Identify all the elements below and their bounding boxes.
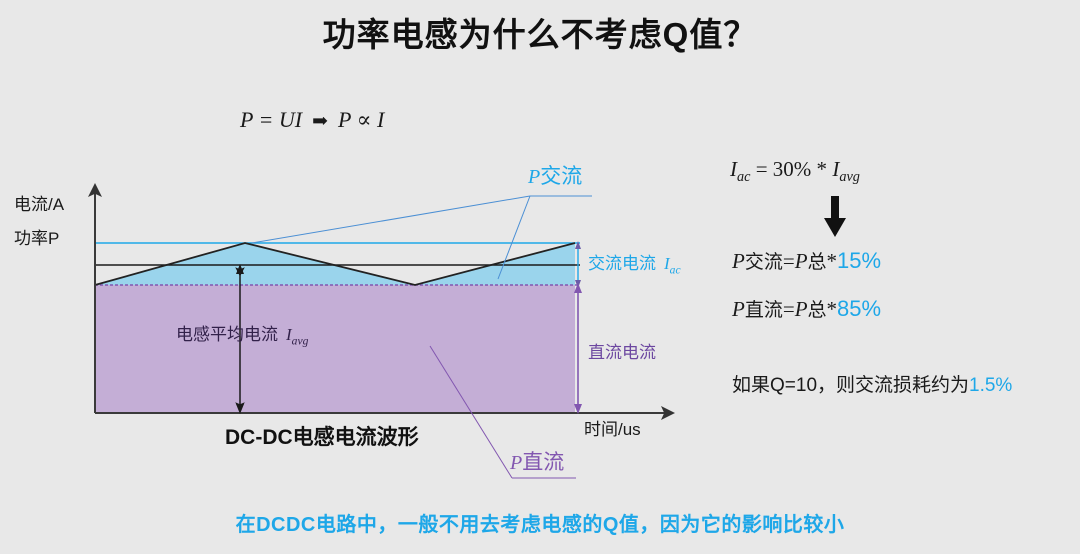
note-q-loss: 如果Q=10，则交流损耗约为1.5% <box>732 370 1012 397</box>
label-ac-current-text: 交流电流 <box>588 254 656 273</box>
eq-pdc-rhs-sub: 总 <box>808 300 827 321</box>
equation-iac-ripple: Iac = 30% * Iavg <box>730 157 860 186</box>
eq-pac-rhs-sub: 总 <box>808 252 827 273</box>
label-p-dc-symbol: P <box>510 452 522 474</box>
label-p-ac: P交流 <box>528 160 582 190</box>
label-avg-current-symbol: Iavg <box>278 325 308 344</box>
label-p-ac-symbol: P <box>528 166 540 188</box>
equation-p-ac-share: P交流=P总*15% <box>732 247 881 274</box>
eq-pac-percent: 15% <box>837 248 881 273</box>
eq-pdc-percent: 85% <box>837 296 881 321</box>
arrow-down-icon <box>820 196 850 240</box>
label-p-ac-subscript: 交流 <box>540 165 582 188</box>
label-ac-current: 交流电流Iac <box>588 249 681 276</box>
slide-root: 功率电感为什么不考虑Q值？ P = UI➡P ∝ I <box>0 0 1080 554</box>
dc-area-fill <box>95 285 575 413</box>
eq-pac-lhs-symbol: P <box>732 249 745 273</box>
ac-arrow-head-up <box>575 241 581 249</box>
eq-pac-lhs-sub: 交流 <box>745 252 783 273</box>
note-q-value: 1.5% <box>969 375 1012 396</box>
eq-pac-multiply: * <box>827 249 838 273</box>
eq-iac-operator: = 30% * <box>750 157 832 181</box>
eq-iac-rhs: Iavg <box>832 157 860 181</box>
eq-pdc-lhs-symbol: P <box>732 297 745 321</box>
label-dc-current: 直流电流 <box>588 338 656 363</box>
diagram-caption: DC-DC电感电流波形 <box>225 421 419 451</box>
eq-iac-lhs: Iac <box>730 157 750 181</box>
p-ac-leader-line-1 <box>252 196 530 243</box>
equation-p-dc-share: P直流=P总*85% <box>732 295 881 322</box>
eq-pdc-rhs-symbol: P <box>795 297 808 321</box>
note-q-prefix: 如果Q=10，则交流损耗约为 <box>732 375 969 396</box>
label-p-dc: P直流 <box>510 446 564 476</box>
eq-pdc-equals: = <box>783 297 795 321</box>
eq-pdc-multiply: * <box>827 297 838 321</box>
y-axis-label-current: 电流/A <box>14 190 64 215</box>
label-avg-current-text: 电感平均电流 <box>176 325 278 344</box>
footer-conclusion: 在DCDC电路中，一般不用去考虑电感的Q值，因为它的影响比较小 <box>0 508 1080 537</box>
y-axis-label-power: 功率P <box>14 224 59 249</box>
x-axis-label-time: 时间/us <box>584 415 641 440</box>
label-p-dc-subscript: 直流 <box>522 451 564 474</box>
label-avg-current: 电感平均电流Iavg <box>176 320 308 347</box>
eq-pdc-lhs-sub: 直流 <box>745 300 783 321</box>
eq-pac-rhs-symbol: P <box>795 249 808 273</box>
eq-pac-equals: = <box>783 249 795 273</box>
label-ac-current-symbol: Iac <box>656 254 681 273</box>
